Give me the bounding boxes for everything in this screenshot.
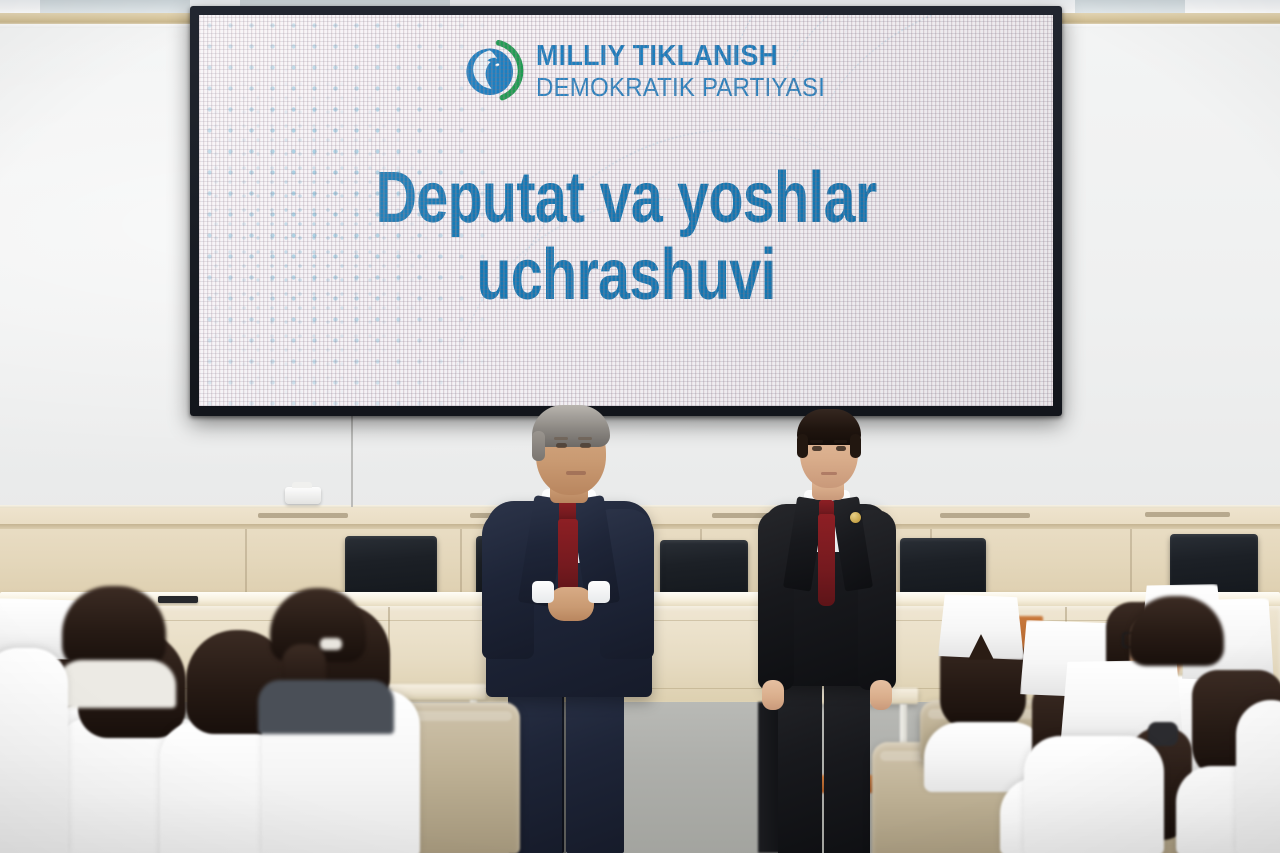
ceiling-window-right bbox=[1075, 0, 1185, 14]
milliy-tiklanish-bird-emblem bbox=[462, 39, 525, 102]
party-logo: MILLIY TIKLANISH DEMOKRATIK PARTIYASI bbox=[462, 39, 847, 102]
young-official-hand-right bbox=[870, 680, 892, 710]
young-official-brow bbox=[834, 440, 847, 443]
student-hair bbox=[62, 586, 166, 668]
senior-official-cuff-right bbox=[588, 581, 610, 603]
white-coat bbox=[0, 648, 68, 853]
young-official-sideburn bbox=[797, 434, 808, 458]
audience-student bbox=[1236, 700, 1280, 853]
senior-official-eye bbox=[580, 443, 591, 448]
slide-title: Deputat va yoshlar uchrashuvi bbox=[199, 163, 1053, 310]
screen-cable bbox=[351, 415, 353, 507]
slide-title-line-1: Deputat va yoshlar bbox=[284, 163, 967, 234]
senior-official-tie-blade bbox=[558, 519, 578, 597]
young-official-tie-blade bbox=[818, 514, 835, 606]
student-shoulder bbox=[56, 660, 176, 708]
brand-text: MILLIY TIKLANISH DEMOKRATIK PARTIYASI bbox=[536, 42, 847, 100]
young-official-mouth bbox=[821, 472, 837, 475]
ceiling-window-left bbox=[40, 0, 190, 14]
senior-official-cuff-left bbox=[532, 581, 554, 603]
senior-official-eye bbox=[556, 443, 567, 448]
wainscot-slot bbox=[940, 513, 1030, 518]
young-official-trousers bbox=[778, 666, 822, 853]
slide-title-line-2: uchrashuvi bbox=[284, 240, 967, 311]
senior-official-brow bbox=[554, 437, 568, 440]
young-official-arm-left bbox=[758, 510, 794, 690]
student-top bbox=[258, 680, 394, 734]
senior-official-sideburn bbox=[532, 431, 545, 461]
young-official-eye bbox=[812, 446, 822, 451]
gold-lapel-pin bbox=[850, 512, 861, 523]
young-official-eye bbox=[836, 446, 846, 451]
senior-official-brow bbox=[578, 437, 592, 440]
brand-line-2: DEMOKRATIK PARTIYASI bbox=[536, 74, 825, 100]
senior-official-mouth bbox=[566, 471, 586, 475]
young-official-trousers bbox=[824, 666, 870, 853]
audience-student bbox=[1128, 596, 1238, 706]
audience-student bbox=[0, 648, 62, 853]
young-official-brow bbox=[810, 440, 823, 443]
student-hair bbox=[1128, 596, 1224, 666]
brand-line-1: MILLIY TIKLANISH bbox=[536, 42, 825, 71]
projector-speaker-box bbox=[285, 487, 321, 504]
wainscot-slot bbox=[1145, 512, 1230, 517]
hair-clip bbox=[1148, 722, 1178, 746]
audience-student bbox=[62, 586, 166, 706]
led-video-wall: MILLIY TIKLANISH DEMOKRATIK PARTIYASI De… bbox=[190, 6, 1062, 416]
white-coat bbox=[1236, 700, 1280, 853]
hair-clip bbox=[320, 638, 342, 650]
young-official-hand-left bbox=[762, 680, 784, 710]
audience-student bbox=[262, 588, 382, 728]
led-screen-surface: MILLIY TIKLANISH DEMOKRATIK PARTIYASI De… bbox=[199, 15, 1053, 406]
wainscot-slot bbox=[258, 513, 348, 518]
white-coat bbox=[1024, 736, 1164, 853]
young-official-sideburn bbox=[850, 434, 861, 458]
photo-scene: MILLIY TIKLANISH DEMOKRATIK PARTIYASI De… bbox=[0, 0, 1280, 853]
